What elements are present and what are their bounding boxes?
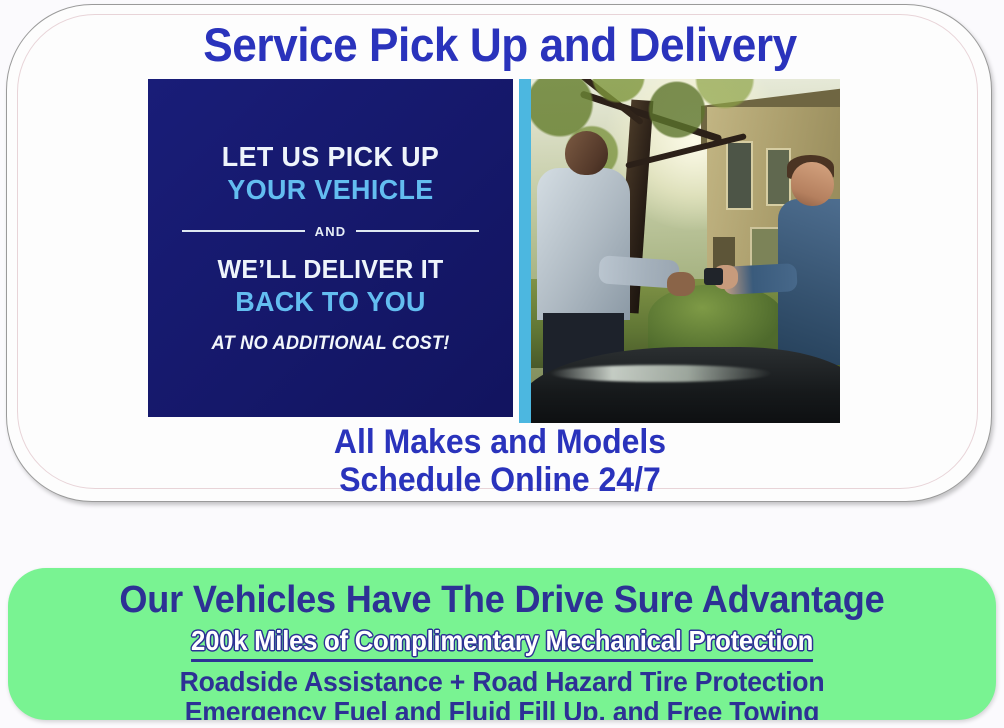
navy-message-panel: LET US PICK UP YOUR VEHICLE AND WE’LL DE… xyxy=(148,79,513,417)
accent-stripe xyxy=(519,79,531,423)
no-cost-line: AT NO ADDITIONAL COST! xyxy=(155,333,505,355)
page-title: Service Pick Up and Delivery xyxy=(37,21,964,68)
advantage-benefit-line-2: Emergency Fuel and Fluid Fill Up, and Fr… xyxy=(33,698,972,720)
and-label: AND xyxy=(315,224,347,239)
subline-schedule-online: Schedule Online 24/7 xyxy=(37,461,964,499)
deliver-line-2: BACK TO YOU xyxy=(155,286,505,317)
photo-car-reflection xyxy=(550,365,772,382)
and-divider: AND xyxy=(182,224,479,239)
subline-all-makes: All Makes and Models xyxy=(37,423,964,461)
service-pickup-card: Service Pick Up and Delivery LET US PICK… xyxy=(6,4,992,502)
divider-rule-right xyxy=(356,230,479,232)
photo-customer-hand xyxy=(667,272,695,296)
deliver-line-1: WE’LL DELIVER IT xyxy=(155,255,505,284)
drive-sure-advantage-card: Our Vehicles Have The Drive Sure Advanta… xyxy=(8,568,996,720)
advantage-highlight: 200k Miles of Complimentary Mechanical P… xyxy=(8,625,996,662)
photo-customer-torso xyxy=(537,168,630,319)
pickup-line-2: YOUR VEHICLE xyxy=(155,174,505,205)
advantage-highlight-text: 200k Miles of Complimentary Mechanical P… xyxy=(191,625,813,662)
photo-customer-head xyxy=(565,131,608,176)
card-sublines: All Makes and Models Schedule Online 24/… xyxy=(37,423,964,500)
navy-message-stack: LET US PICK UP YOUR VEHICLE AND WE’LL DE… xyxy=(148,141,513,355)
divider-rule-left xyxy=(182,230,305,232)
pickup-line-1: LET US PICK UP xyxy=(155,141,505,172)
key-handoff-photo xyxy=(531,79,840,423)
photo-car-keys xyxy=(704,268,723,285)
promo-creative: LET US PICK UP YOUR VEHICLE AND WE’LL DE… xyxy=(148,79,840,423)
photo-driver-head xyxy=(791,162,834,207)
promo-page: Service Pick Up and Delivery LET US PICK… xyxy=(0,0,1004,728)
advantage-benefit-line-1: Roadside Assistance + Road Hazard Tire P… xyxy=(33,668,972,696)
advantage-title: Our Vehicles Have The Drive Sure Advanta… xyxy=(33,581,972,619)
